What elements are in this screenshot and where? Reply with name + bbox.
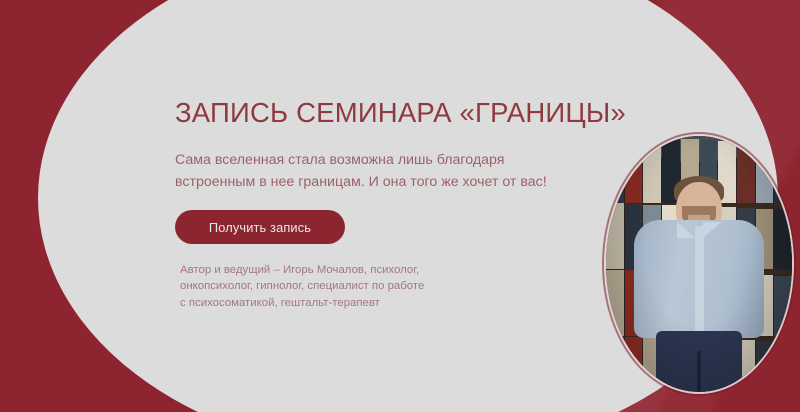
author-credits: Автор и ведущий – Игорь Мочалов, психоло… [180,262,480,311]
author-credits-line-3: с психосоматикой, гештальт-терапевт [180,295,480,311]
portrait-vignette [606,136,792,392]
page-title: ЗАПИСЬ СЕМИНАРА «ГРАНИЦЫ» [175,96,645,130]
hero-content: ЗАПИСЬ СЕМИНАРА «ГРАНИЦЫ» Сама вселенная… [175,96,645,311]
author-credits-line-2: онкопсихолог, гипнолог, специалист по ра… [180,278,480,294]
hero-subtitle: Сама вселенная стала возможна лишь благо… [175,149,575,193]
speaker-portrait [606,136,792,392]
portrait-photo [606,136,792,392]
author-credits-line-1: Автор и ведущий – Игорь Мочалов, психоло… [180,262,480,278]
get-recording-button[interactable]: Получить запись [175,210,345,244]
hero-banner: ЗАПИСЬ СЕМИНАРА «ГРАНИЦЫ» Сама вселенная… [0,0,800,412]
